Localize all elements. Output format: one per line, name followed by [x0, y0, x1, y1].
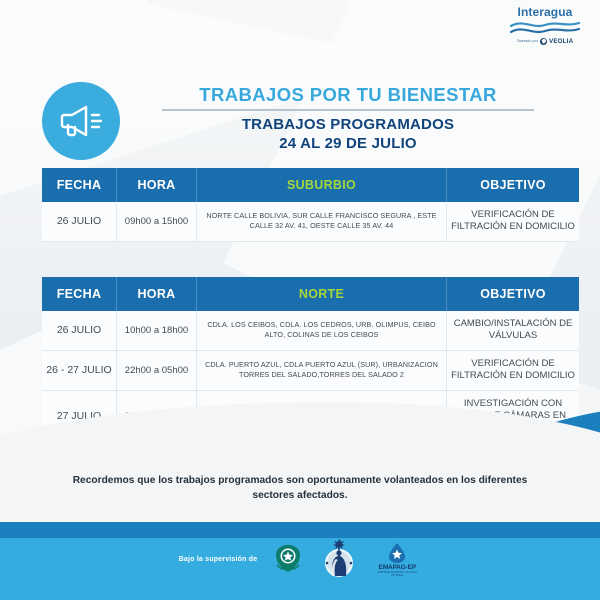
cell-fecha: 26 JULIO	[42, 311, 117, 350]
cell-objetivo: VERIFICACIÓN DE FILTRACIÓN EN DOMICILIO	[447, 202, 580, 241]
column-header-hora: HORA	[117, 277, 197, 311]
operated-by-label: Operado por	[517, 39, 538, 43]
cell-hora: 09h00 a 15h00	[117, 202, 197, 241]
megaphone-icon	[58, 101, 104, 141]
column-header-fecha: FECHA	[42, 168, 117, 202]
guayaquil-statue-logo	[319, 536, 359, 582]
cell-objetivo: VERIFICACIÓN DE FILTRACIÓN EN DOMICILIO	[447, 350, 580, 390]
column-header-objetivo: OBJETIVO	[447, 168, 580, 202]
interagua-logo: Interagua Operado por VEOLIA	[502, 6, 588, 45]
cell-objetivo: CAMBIO/INSTALACIÓN DE VÁLVULAS	[447, 311, 580, 350]
poster-header: TRABAJOS POR TU BIENESTAR TRABAJOS PROGR…	[42, 82, 558, 168]
page-subtitle-line2: 24 AL 29 DE JULIO	[138, 135, 558, 154]
brand-name: Interagua	[502, 6, 588, 19]
municipio-star-shield-logo	[271, 542, 305, 576]
megaphone-badge	[42, 82, 120, 160]
veolia-name: VEOLIA	[549, 38, 573, 45]
cell-hora: 22h00 a 05h00	[117, 350, 197, 390]
poster-root: Interagua Operado por VEOLIA	[0, 0, 600, 600]
emapag-label: EMAPAG-EP	[373, 564, 421, 571]
footer-wave-white	[0, 402, 600, 522]
column-header-zone: SUBURBIO	[197, 168, 447, 202]
cell-zona: CDLA. LOS CEIBOS, CDLA. LOS CEDROS, URB.…	[197, 311, 447, 350]
cell-zona: NORTE CALLE BOLIVIA, SUR CALLE FRANCISCO…	[197, 202, 447, 241]
column-header-fecha: FECHA	[42, 277, 117, 311]
page-subtitle-line1: TRABAJOS PROGRAMADOS	[138, 116, 558, 135]
supervision-label: Bajo la supervisión de	[179, 556, 258, 563]
emapag-ep-logo: EMAPAG-EP EMPRESA MUNICIPAL DE AGUA POTA…	[373, 542, 421, 576]
footer-logos: Bajo la supervisión de	[0, 536, 600, 582]
water-waves-icon	[509, 20, 581, 36]
cell-zona: CDLA. PUERTO AZUL, CDLA PUERTO AZUL (SUR…	[197, 350, 447, 390]
table-header-row: FECHA HORA NORTE OBJETIVO	[42, 277, 579, 311]
column-header-hora: HORA	[117, 168, 197, 202]
table-row: 26 - 27 JULIO 22h00 a 05h00 CDLA. PUERTO…	[42, 350, 579, 390]
table-header-row: FECHA HORA SUBURBIO OBJETIVO	[42, 168, 579, 202]
table-row: 26 JULIO 09h00 a 15h00 NORTE CALLE BOLIV…	[42, 202, 579, 241]
column-header-zone: NORTE	[197, 277, 447, 311]
table-row: 26 JULIO 10h00 a 18h00 CDLA. LOS CEIBOS,…	[42, 311, 579, 350]
emapag-sublabel: EMPRESA MUNICIPAL DE AGUA POTABLE	[373, 571, 421, 577]
cell-hora: 10h00 a 18h00	[117, 311, 197, 350]
cell-fecha: 26 JULIO	[42, 202, 117, 241]
cell-fecha: 26 - 27 JULIO	[42, 350, 117, 390]
title-divider	[162, 109, 534, 111]
column-header-objetivo: OBJETIVO	[447, 277, 580, 311]
page-title: TRABAJOS POR TU BIENESTAR	[138, 84, 558, 105]
operated-by: Operado por VEOLIA	[502, 38, 588, 45]
header-titles: TRABAJOS POR TU BIENESTAR TRABAJOS PROGR…	[138, 84, 558, 154]
footer-note: Recordemos que los trabajos programados …	[60, 474, 540, 504]
veolia-mark-icon	[540, 38, 547, 45]
schedule-table-suburbio: FECHA HORA SUBURBIO OBJETIVO 26 JULIO 09…	[42, 168, 579, 242]
